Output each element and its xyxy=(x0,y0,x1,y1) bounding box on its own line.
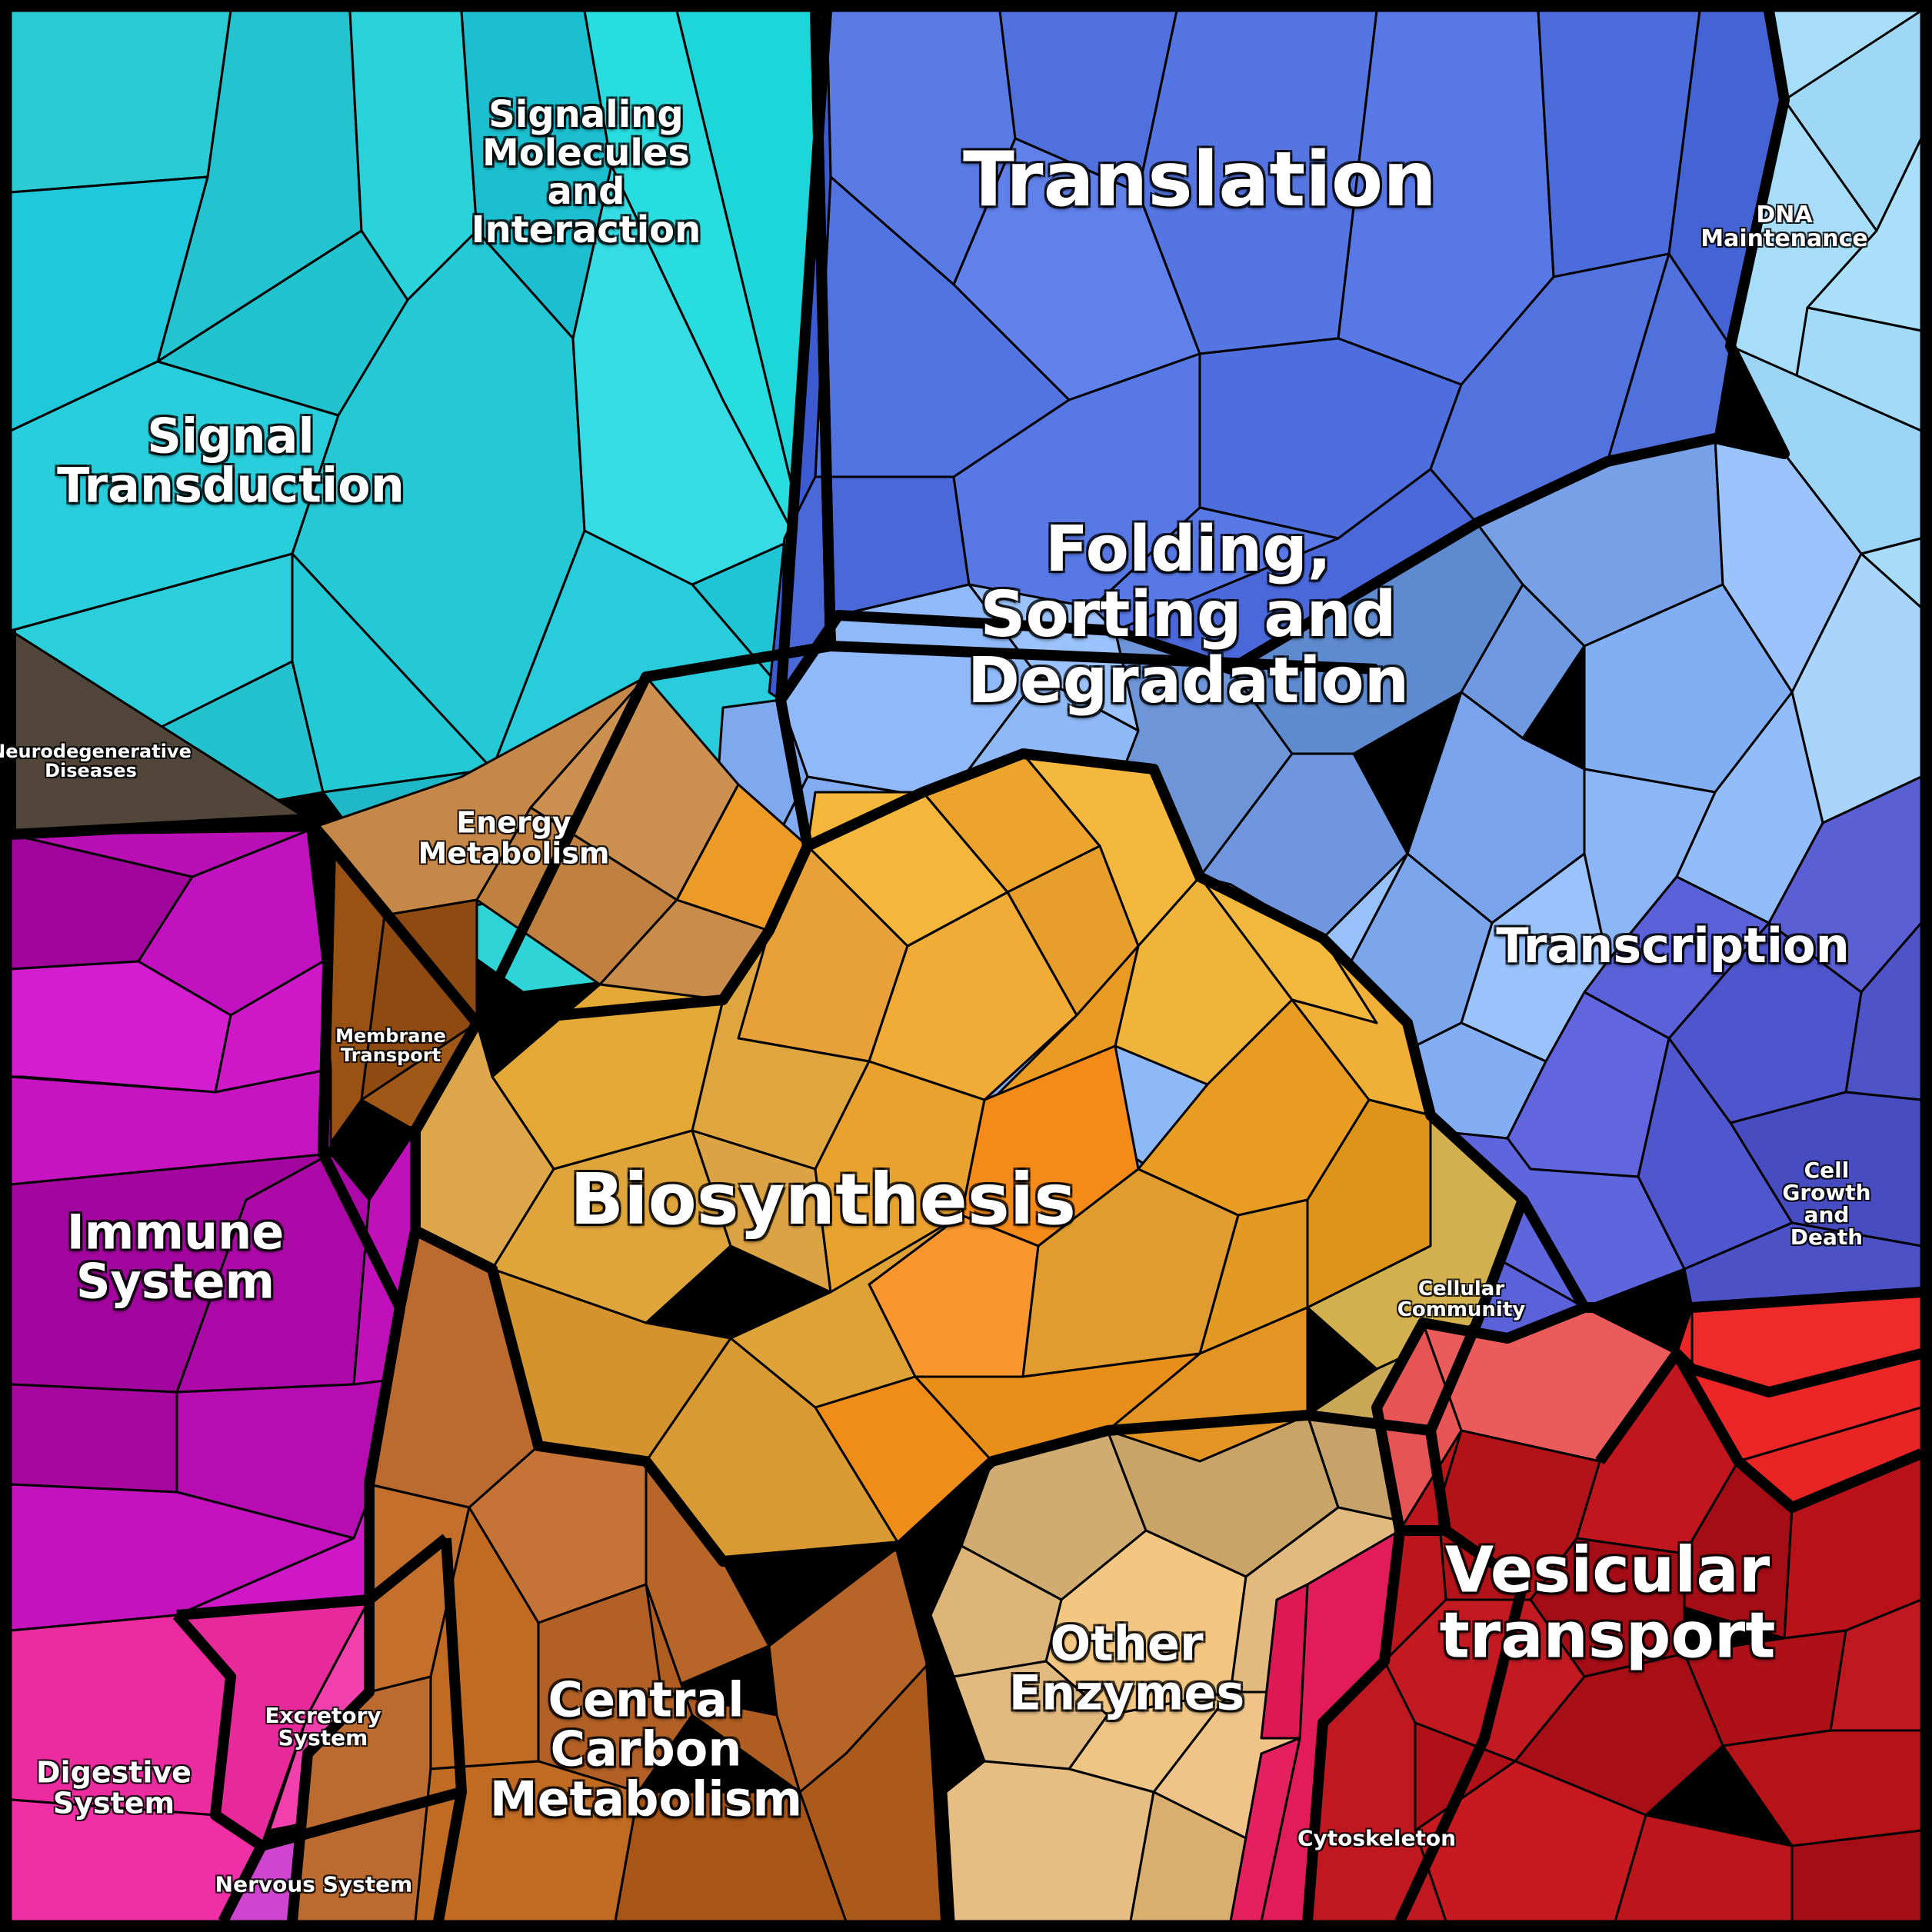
voronoi-treemap-figure: Signal Transduction Signaling Molecules … xyxy=(0,0,1932,1932)
treemap-svg xyxy=(0,0,1932,1932)
